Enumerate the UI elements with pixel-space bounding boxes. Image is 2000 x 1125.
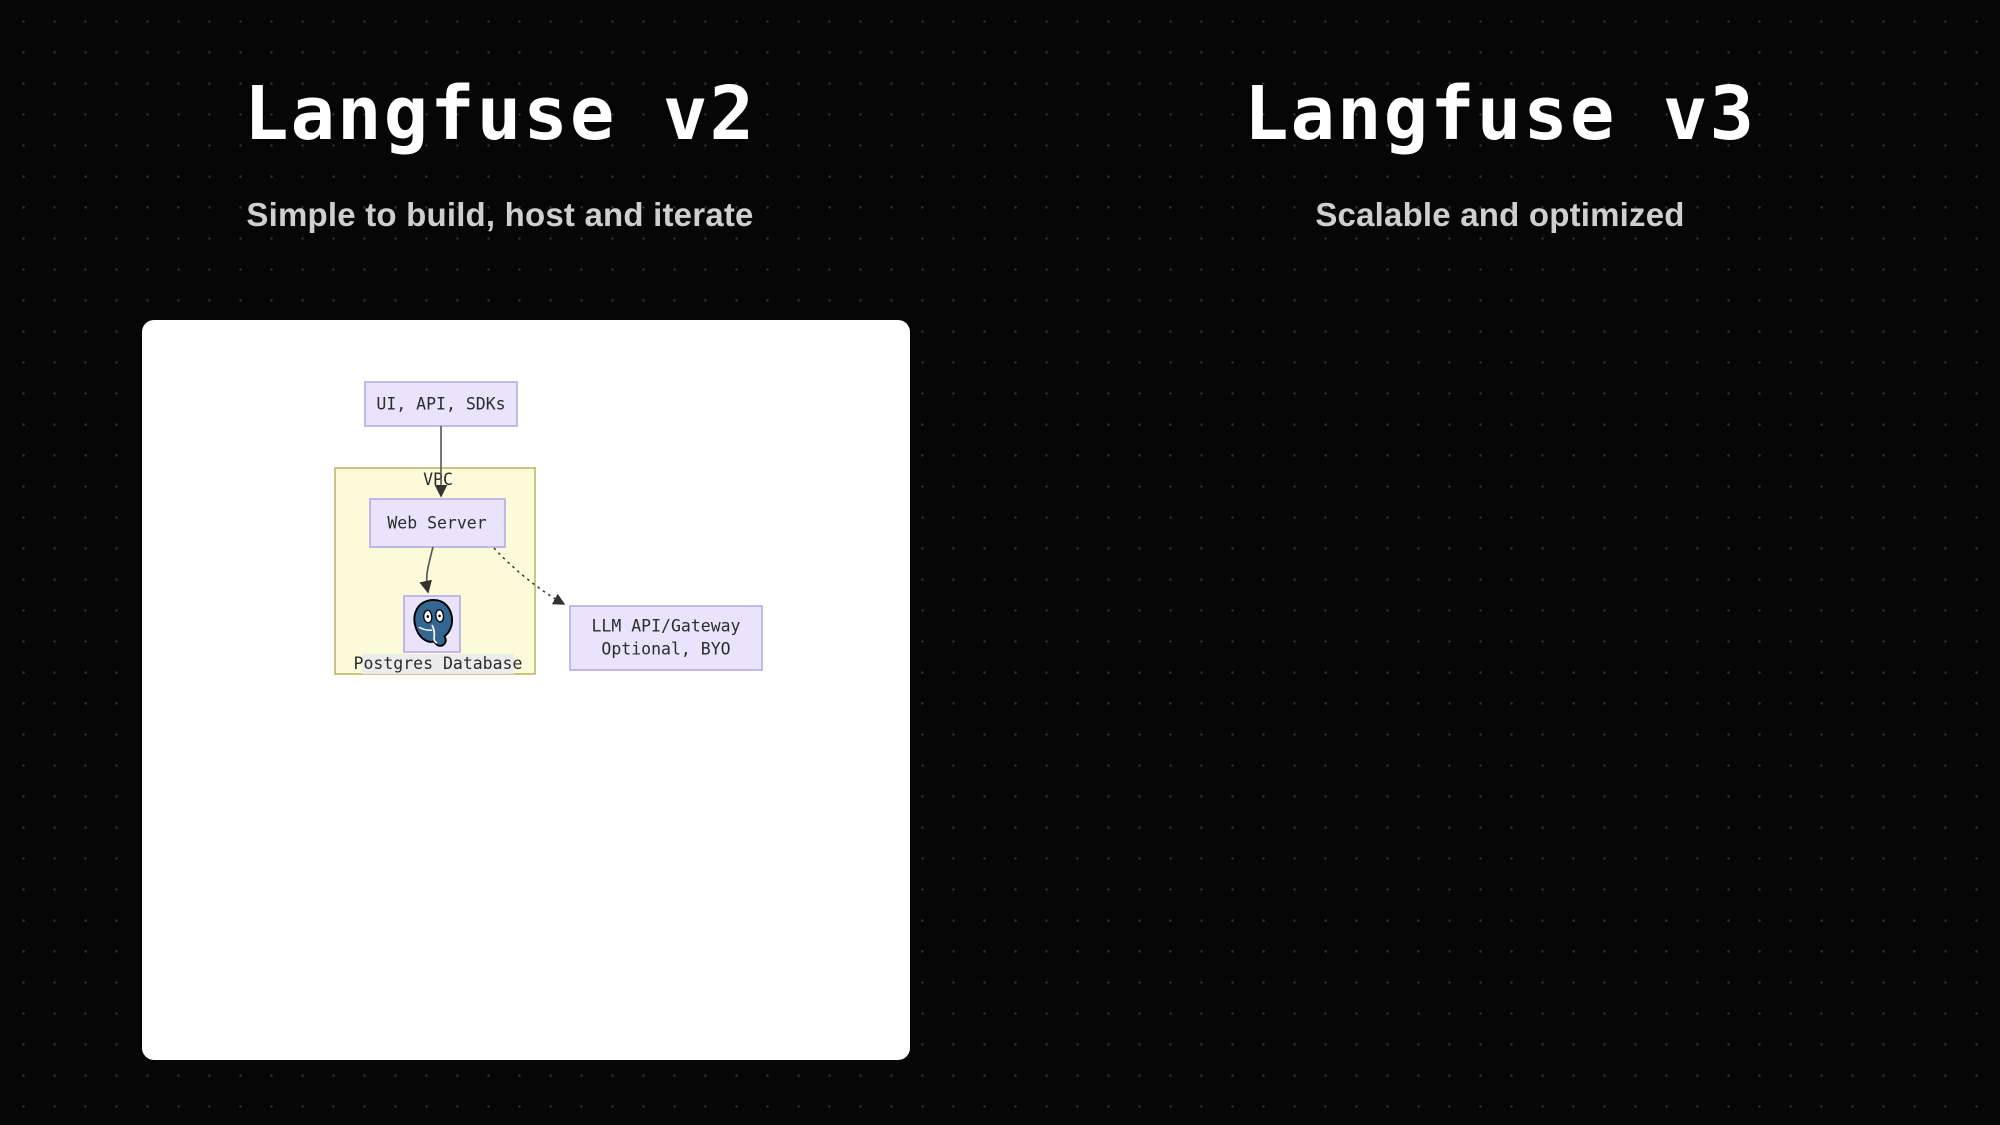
- page-title-v3: Langfuse v3: [1000, 76, 2000, 154]
- node-label-postgres: Postgres Database: [354, 654, 523, 673]
- node-llm-gateway-v2[interactable]: LLM API/Gateway Optional, BYO: [570, 606, 762, 670]
- architecture-diagram-v2: VPC UI, API, SDKs Web Server: [142, 320, 910, 1060]
- node-web-server-v2[interactable]: Web Server: [370, 499, 505, 547]
- node-ui-api-sdks-v2[interactable]: UI, API, SDKs: [365, 382, 517, 426]
- page-root: Langfuse v2 Simple to build, host and it…: [0, 0, 2000, 1125]
- diagram-card-v2: VPC UI, API, SDKs Web Server: [142, 320, 910, 1060]
- vpc-label-v2: VPC: [423, 470, 453, 489]
- panel-langfuse-v2: Langfuse v2 Simple to build, host and it…: [0, 0, 1000, 1125]
- page-title-v2: Langfuse v2: [0, 76, 1000, 154]
- page-subtitle-v2: Simple to build, host and iterate: [0, 196, 1000, 234]
- node-label-line2: Optional, BYO: [601, 640, 730, 659]
- node-label-line1: LLM API/Gateway: [591, 617, 740, 636]
- node-label: Web Server: [387, 514, 486, 533]
- node-postgres-v2[interactable]: [404, 596, 460, 652]
- panel-langfuse-v3: Langfuse v3 Scalable and optimized VPC U…: [1000, 0, 2000, 1125]
- page-subtitle-v3: Scalable and optimized: [1000, 196, 2000, 234]
- node-label: UI, API, SDKs: [376, 395, 505, 414]
